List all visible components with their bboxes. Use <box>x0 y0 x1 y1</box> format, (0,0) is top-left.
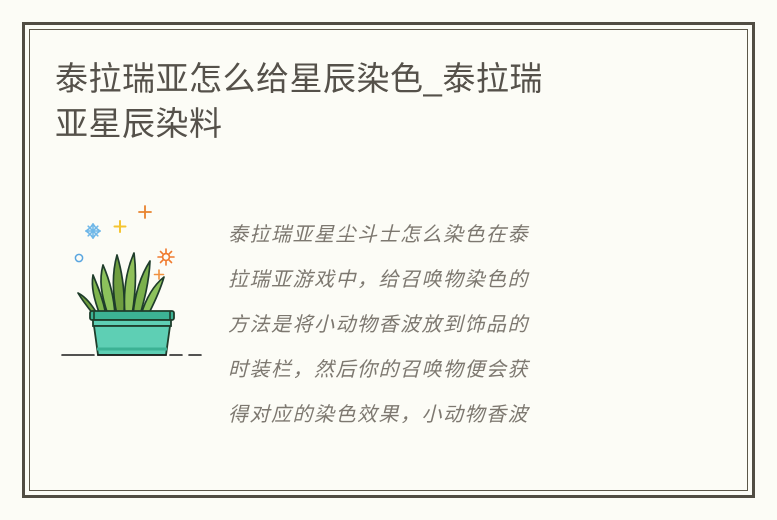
snowflake-sparkle-icon <box>86 224 100 238</box>
article-body: 泰拉瑞亚星尘斗士怎么染色在泰 拉瑞亚游戏中，给召唤物染色的 方法是将小动物香波放… <box>228 212 648 437</box>
article-card-page: 泰拉瑞亚怎么给星辰染色_泰拉瑞 亚星辰染料 <box>0 0 777 520</box>
dot-sparkle-yellow-icon <box>115 221 126 232</box>
article-body-line-5: 得对应的染色效果，小动物香波 <box>228 392 648 437</box>
plant-pot <box>90 311 174 355</box>
circle-sparkle-blue-icon <box>75 254 82 261</box>
page-title-line-2: 亚星辰染料 <box>55 101 675 146</box>
article-body-line-1: 泰拉瑞亚星尘斗士怎么染色在泰 <box>228 212 648 257</box>
cross-sparkle-orange-icon <box>139 206 151 218</box>
page-title-line-1: 泰拉瑞亚怎么给星辰染色_泰拉瑞 <box>55 56 675 101</box>
plant-leaves <box>78 253 164 315</box>
article-body-line-3: 方法是将小动物香波放到饰品的 <box>228 302 648 347</box>
article-body-line-2: 拉瑞亚游戏中，给召唤物染色的 <box>228 257 648 302</box>
page-title: 泰拉瑞亚怎么给星辰染色_泰拉瑞 亚星辰染料 <box>55 56 675 146</box>
flower-sparkle-orange-icon <box>158 249 174 265</box>
article-body-line-4: 时装栏，然后你的召唤物便会获 <box>228 347 648 392</box>
potted-plant-illustration <box>60 195 205 370</box>
